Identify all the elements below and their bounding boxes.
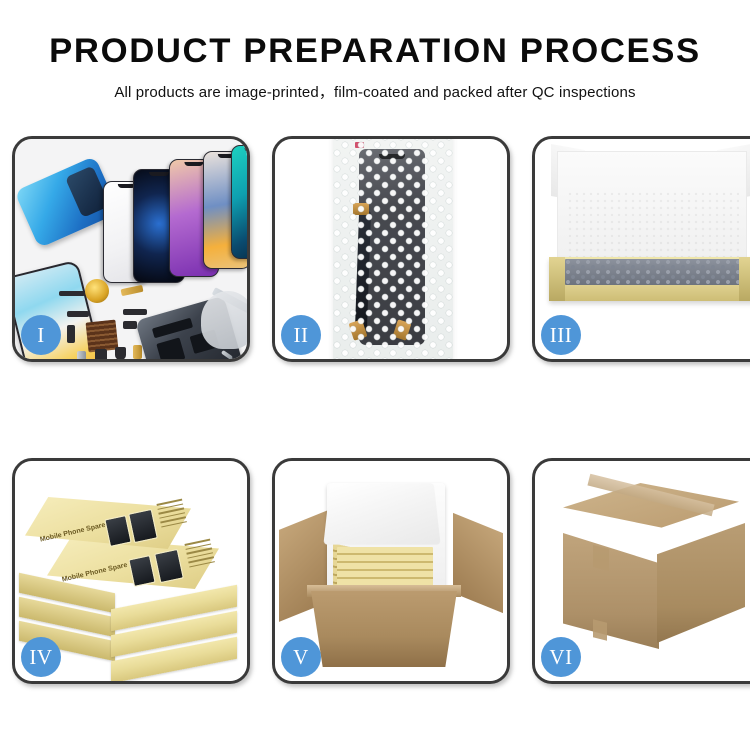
process-step-panel-2[interactable]: II <box>272 136 510 362</box>
box-spec-lines <box>184 539 215 571</box>
small-part <box>115 347 126 359</box>
tray-lip-right <box>739 257 750 301</box>
carton-tape-tab <box>593 619 607 640</box>
process-step-panel-5[interactable]: V <box>272 458 510 684</box>
step-badge-4: IV <box>21 637 61 677</box>
carton-tape-tab <box>593 545 609 571</box>
step-badge-5: V <box>281 637 321 677</box>
tray-lip-left <box>549 257 565 301</box>
connector-grid-part <box>86 320 119 353</box>
step-badge-6: VI <box>541 637 581 677</box>
hand <box>201 291 247 349</box>
page-header: PRODUCT PREPARATION PROCESS All products… <box>0 0 750 102</box>
gold-tray-box <box>549 257 750 301</box>
step-badge-2: II <box>281 315 321 355</box>
small-part <box>123 309 147 315</box>
phone-fan-group <box>103 149 247 279</box>
carton-body <box>311 591 457 667</box>
process-step-panel-1[interactable]: I <box>12 136 250 362</box>
tray-contents <box>565 259 741 285</box>
small-part <box>67 325 75 343</box>
small-part <box>59 291 85 296</box>
process-step-panel-4[interactable]: Mobile Phone Spare Parts Mobile Phone Sp… <box>12 458 250 684</box>
small-part <box>123 321 137 329</box>
gold-coil-part <box>85 279 109 303</box>
step-badge-1: I <box>21 315 61 355</box>
process-step-panel-6[interactable]: VI <box>532 458 750 684</box>
phone-teal-wallpaper <box>231 145 247 259</box>
box-spec-lines <box>156 499 187 531</box>
small-part <box>77 351 86 359</box>
page-title: PRODUCT PREPARATION PROCESS <box>0 34 750 70</box>
small-part <box>95 349 107 359</box>
process-step-panel-3[interactable]: III <box>532 136 750 362</box>
page-subtitle: All products are image-printed，film-coat… <box>0 81 750 102</box>
step-badge-3: III <box>541 315 581 355</box>
bubble-texture <box>333 139 453 359</box>
small-part <box>133 345 142 359</box>
small-part <box>67 311 89 317</box>
process-step-grid: I II <box>12 136 738 684</box>
bubble-wrap-bag <box>333 139 453 359</box>
foam-lid <box>323 483 440 544</box>
packed-gold-boxes <box>337 547 433 589</box>
foam-sheet <box>567 191 739 259</box>
